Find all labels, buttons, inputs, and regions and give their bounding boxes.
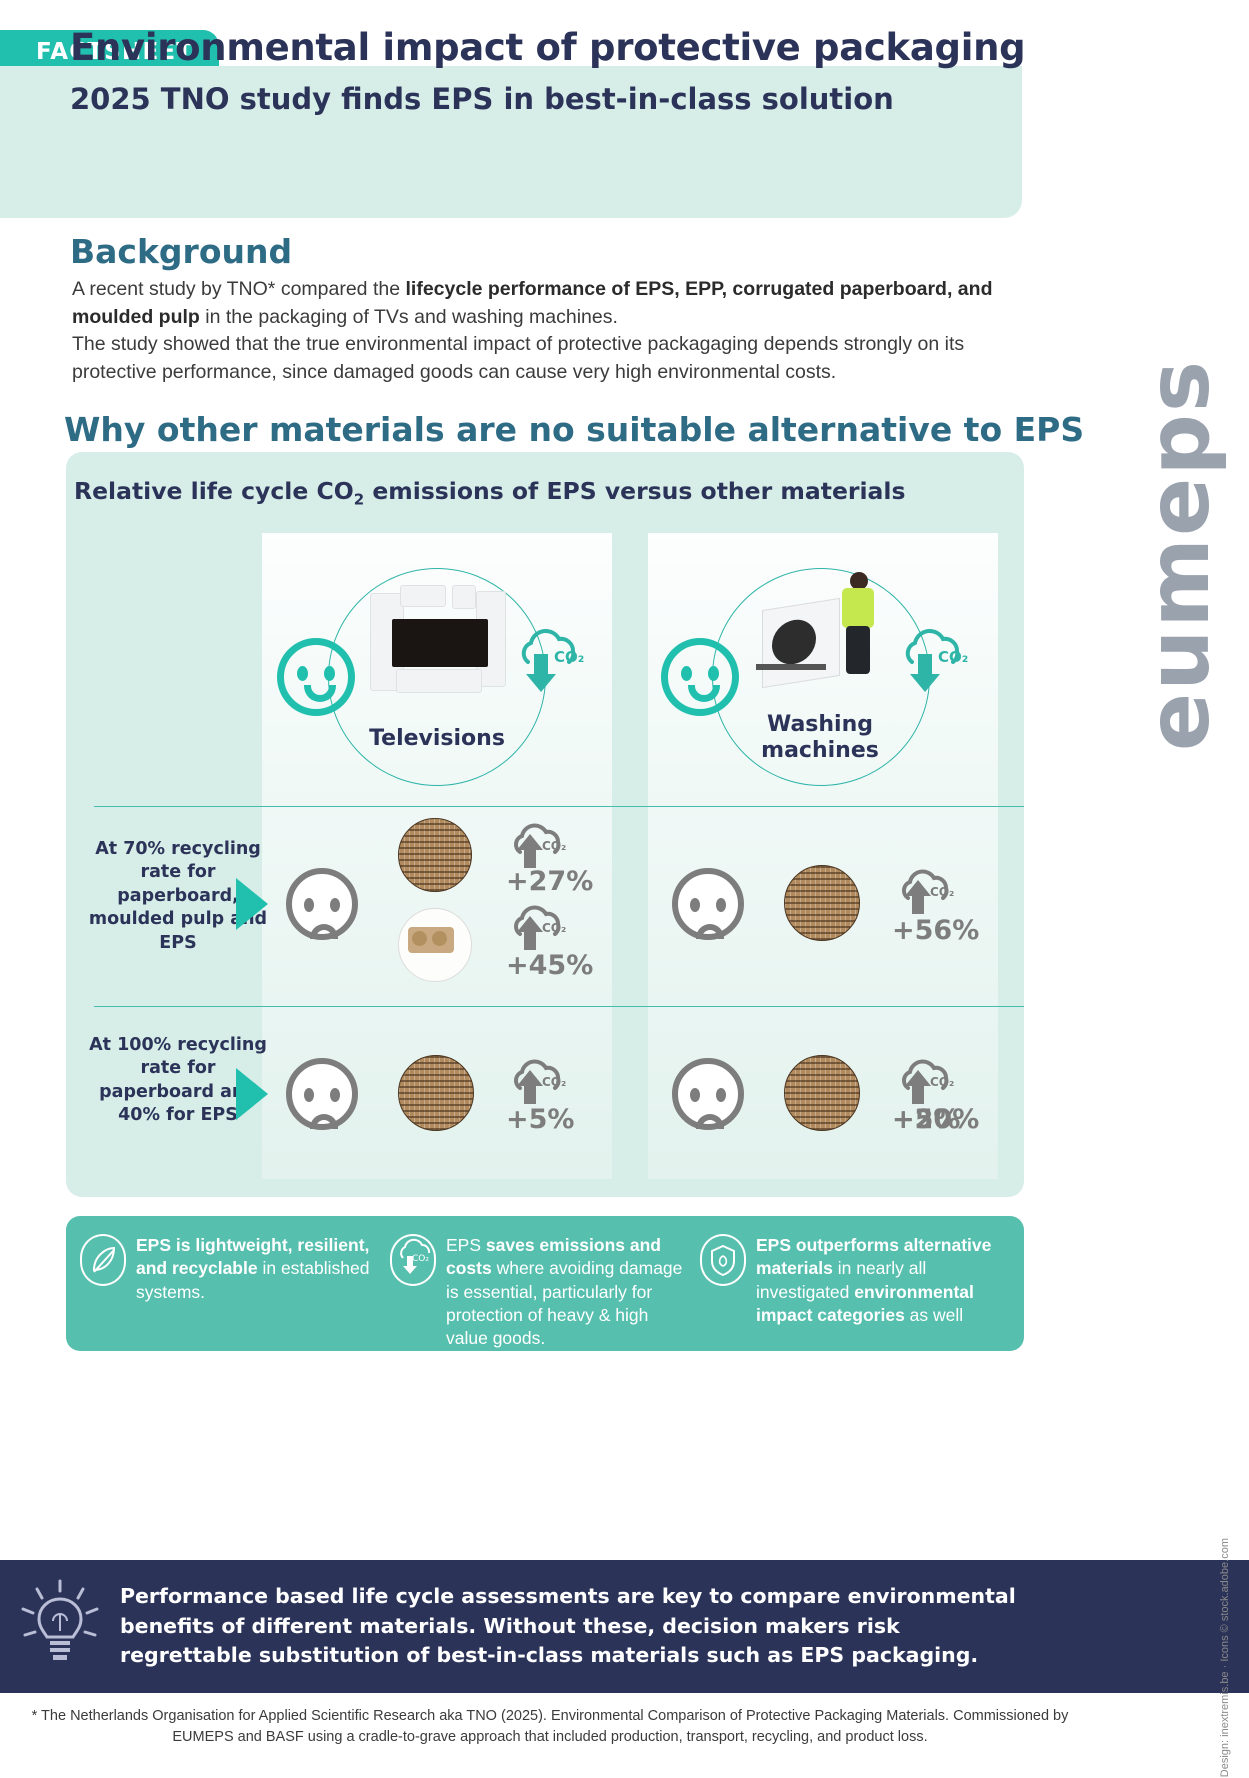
- svg-text:CO₂: CO₂: [930, 885, 954, 899]
- svg-text:CO₂: CO₂: [938, 648, 968, 666]
- svg-text:CO₂: CO₂: [930, 1075, 954, 1089]
- material-swatch-corrugated-paperboard: [784, 1055, 860, 1131]
- sad-face-wm-row1: [672, 868, 744, 940]
- eye-right: [330, 898, 340, 912]
- value-tv-pulp-70: +45%: [506, 950, 593, 981]
- value-tv-paperboard-100: +5%: [506, 1104, 574, 1135]
- row-divider-1: [94, 806, 1024, 807]
- chart-title: Relative life cycle CO2 emissions of EPS…: [74, 477, 905, 509]
- happy-face-washing-machines: [661, 638, 739, 716]
- callout-text: Performance based life cycle assessments…: [120, 1582, 1020, 1671]
- row-arrow-2: [236, 1068, 268, 1120]
- brand-rail: eumeps: [1119, 0, 1249, 1530]
- material-swatch-corrugated-paperboard: [784, 865, 860, 941]
- eye-right: [324, 666, 335, 681]
- sad-mouth: [696, 924, 724, 939]
- television-eps-packaging-image: [370, 585, 508, 695]
- happy-mouth: [688, 685, 720, 702]
- eye-left: [681, 666, 692, 681]
- co2-increase-icon: CO₂: [890, 1052, 960, 1110]
- sad-eyes: [292, 898, 352, 912]
- sad-mouth: [696, 1114, 724, 1129]
- callout-banner: Performance based life cycle assessments…: [0, 1560, 1249, 1693]
- background-heading: Background: [70, 232, 292, 271]
- pulp-cup: [432, 931, 447, 946]
- sad-face-tv-row1: [286, 868, 358, 940]
- value-tv-paperboard-70: +27%: [506, 866, 593, 897]
- eye-left: [690, 1088, 700, 1102]
- row-arrow-1: [236, 878, 268, 930]
- eye-right: [716, 898, 726, 912]
- background-p1-lead: A recent study by TNO* compared the: [72, 278, 405, 300]
- material-swatch-moulded-pulp: [398, 908, 472, 982]
- worker-legs: [846, 626, 870, 674]
- co2-decrease-icon: CO₂: [892, 622, 970, 700]
- happy-face-televisions: [277, 638, 355, 716]
- leaf-feather-icon: [80, 1234, 126, 1286]
- row-divider-2: [94, 1006, 1024, 1007]
- svg-text:CO₂: CO₂: [542, 1075, 566, 1089]
- sad-eyes: [678, 1088, 738, 1102]
- benefit-item-2: CO₂ EPS saves emissions and costs where …: [390, 1234, 700, 1351]
- benefit-text-2: EPS saves emissions and costs where avoi…: [446, 1234, 694, 1351]
- value-wm-paperboard-100-label: +20%: [892, 1104, 979, 1135]
- eye-right: [708, 666, 719, 681]
- pulp-tray: [408, 927, 454, 953]
- benefit-text-3: EPS outperforms alternative materials in…: [756, 1234, 1004, 1351]
- footnote: * The Netherlands Organisation for Appli…: [0, 1706, 1100, 1748]
- benefit-item-1: EPS is lightweight, resilient, and recyc…: [80, 1234, 390, 1351]
- eye-left: [304, 898, 314, 912]
- eye-left: [297, 666, 308, 681]
- chart-title-main: Relative life cycle CO: [74, 477, 354, 505]
- sad-eyes: [292, 1088, 352, 1102]
- television-screen: [392, 619, 488, 667]
- chart-title-rest: emissions of EPS versus other materials: [364, 477, 905, 505]
- section-heading: Why other materials are no suitable alte…: [64, 410, 1084, 449]
- lightbulb-icon: [0, 1577, 120, 1677]
- chart-title-sub: 2: [354, 491, 364, 509]
- background-body: A recent study by TNO* compared the life…: [72, 276, 1022, 387]
- brand-wordmark: eumeps: [1129, 125, 1229, 985]
- column-label-televisions: Televisions: [317, 726, 557, 752]
- sad-face-tv-row2: [286, 1058, 358, 1130]
- benefit-item-3: EPS outperforms alternative materials in…: [700, 1234, 1010, 1351]
- co2-increase-icon: CO₂: [502, 898, 572, 956]
- material-swatch-corrugated-paperboard: [398, 1055, 474, 1131]
- background-p2: The study showed that the true environme…: [72, 333, 964, 383]
- eye-right: [330, 1088, 340, 1102]
- co2-increase-icon: CO₂: [890, 862, 960, 920]
- eye-left: [304, 1088, 314, 1102]
- shield-leaf-icon: [700, 1234, 746, 1286]
- co2-decrease-icon: CO₂: [508, 622, 586, 700]
- column-label-washing-machines: Washingmachines: [700, 712, 940, 764]
- sad-mouth: [310, 924, 338, 939]
- happy-eyes: [668, 666, 732, 681]
- happy-mouth: [304, 685, 336, 702]
- sad-eyes: [678, 898, 738, 912]
- page-title: Environmental impact of protective packa…: [70, 26, 1025, 69]
- benefit-lead-2: EPS: [446, 1235, 486, 1255]
- benefits-bar: EPS is lightweight, resilient, and recyc…: [66, 1216, 1024, 1351]
- co2-down-icon: CO₂: [390, 1234, 436, 1286]
- material-swatch-corrugated-paperboard: [398, 818, 472, 892]
- svg-text:CO₂: CO₂: [542, 921, 566, 935]
- value-wm-paperboard-70: +56%: [892, 915, 979, 946]
- delivery-worker: [836, 572, 880, 676]
- page-subtitle: 2025 TNO study finds EPS in best-in-clas…: [70, 82, 894, 116]
- benefit-rest-3: as well: [905, 1305, 963, 1325]
- co2-increase-icon: CO₂: [502, 1052, 572, 1110]
- benefit-text-1: EPS is lightweight, resilient, and recyc…: [136, 1234, 384, 1351]
- eye-left: [690, 898, 700, 912]
- pulp-cup: [412, 931, 427, 946]
- washing-machine-image: [756, 568, 886, 696]
- hand-truck: [756, 664, 826, 670]
- svg-text:CO₂: CO₂: [554, 648, 584, 666]
- design-credit: Design: inextremis.be · Icons © stock.ad…: [1219, 1538, 1231, 1777]
- svg-text:CO₂: CO₂: [542, 839, 566, 853]
- sad-mouth: [310, 1114, 338, 1129]
- happy-eyes: [284, 666, 348, 681]
- eye-right: [716, 1088, 726, 1102]
- background-p1-tail: in the packaging of TVs and washing mach…: [200, 306, 618, 328]
- sad-face-wm-row2: [672, 1058, 744, 1130]
- worker-safety-vest: [842, 588, 874, 628]
